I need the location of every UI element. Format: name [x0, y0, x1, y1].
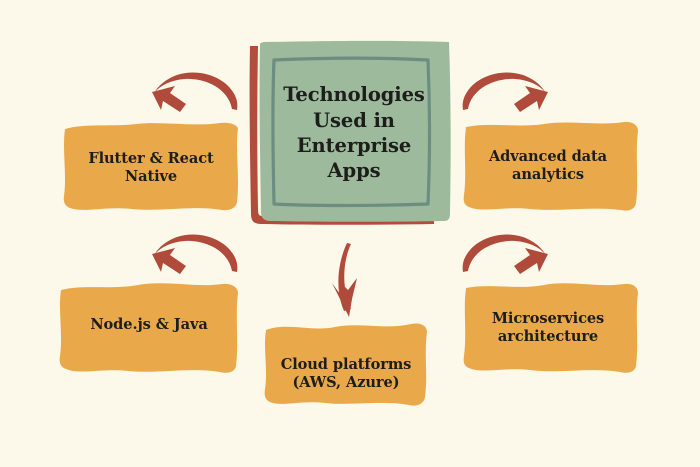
node-flutter-label: Flutter & React Native — [88, 146, 213, 186]
arrow-bottom-right-icon — [463, 234, 548, 274]
center-card[interactable]: Technologies Used in Enterprise Apps — [248, 38, 452, 232]
node-microservices[interactable]: Microservices architecture — [462, 280, 640, 376]
node-flutter[interactable]: Flutter & React Native — [62, 118, 240, 214]
arrow-bottom-left-icon — [152, 234, 237, 274]
node-analytics-label: Advanced data analytics — [489, 148, 613, 184]
node-analytics[interactable]: Advanced data analytics — [462, 118, 640, 214]
node-cloud[interactable]: Cloud platforms (AWS, Azure) — [263, 318, 429, 408]
mind-map-diagram: Technologies Used in Enterprise Apps Flu… — [0, 0, 700, 467]
arrow-bottom-center-icon — [332, 243, 357, 317]
node-cloud-label: Cloud platforms (AWS, Azure) — [281, 334, 412, 392]
node-microservices-label: Microservices architecture — [492, 310, 610, 346]
arrow-top-left-icon — [152, 72, 237, 112]
center-card-label: Technologies Used in Enterprise Apps — [275, 82, 425, 187]
node-nodejs-label: Node.js & Java — [90, 316, 207, 340]
node-nodejs[interactable]: Node.js & Java — [58, 280, 240, 376]
arrow-top-right-icon — [463, 72, 548, 112]
